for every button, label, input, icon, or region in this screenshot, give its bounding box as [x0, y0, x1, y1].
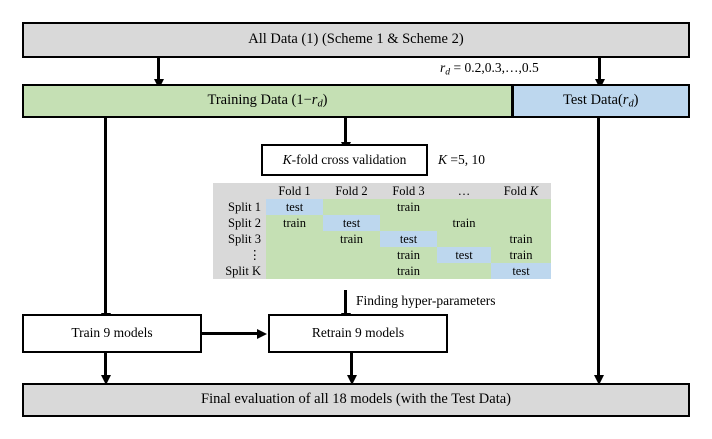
diagram-canvas: All Data (1) (Scheme 1 & Scheme 2) rd = …: [0, 0, 712, 439]
cv-cell: test: [437, 247, 491, 263]
final-evaluation-label: Final evaluation of all 18 models (with …: [201, 392, 511, 408]
cv-cell: train: [380, 199, 437, 215]
cv-cell: [437, 199, 491, 215]
cv-col-header-foldk: Fold K: [491, 183, 551, 199]
k-values-note: K =5, 10: [438, 152, 485, 168]
line-training-to-train-models: [104, 118, 107, 314]
cv-cell: test: [266, 199, 323, 215]
test-data-box: Test Data(rd): [514, 86, 689, 116]
train-test-split-row: Training Data (1−rd) Test Data(rd): [22, 84, 690, 118]
cv-row-label-ellipsis: ⋮: [213, 247, 266, 263]
arrow-test-to-final: [597, 362, 600, 376]
cv-cell: test: [380, 231, 437, 247]
train-9-models-box: Train 9 models: [22, 314, 202, 353]
kfold-cross-validation-box: K-fold cross validation: [261, 144, 428, 176]
cv-cell: [323, 263, 380, 279]
cv-col-header-fold1: Fold 1: [266, 183, 323, 199]
cv-row-label-split2: Split 2: [213, 215, 266, 231]
cv-cell: [266, 231, 323, 247]
cv-cell: train: [491, 231, 551, 247]
table-row: Split K train test: [213, 263, 551, 279]
cv-table-header-row: Fold 1 Fold 2 Fold 3 … Fold K: [213, 183, 551, 199]
arrow-train-to-retrain: [202, 332, 258, 335]
cv-cell: test: [323, 215, 380, 231]
cv-col-header-ellipsis: …: [437, 183, 491, 199]
kfold-label: K-fold cross validation: [283, 153, 407, 168]
k-values: =5, 10: [450, 152, 485, 167]
cv-fold-table: Fold 1 Fold 2 Fold 3 … Fold K Split 1 te…: [213, 183, 551, 279]
cv-row-label-splitk: Split K: [213, 263, 266, 279]
cv-cell: [491, 199, 551, 215]
arrow-cv-to-retrain: [344, 290, 347, 314]
cv-cell: [491, 215, 551, 231]
cv-col-header-fold2: Fold 2: [323, 183, 380, 199]
arrow-train-to-final: [104, 353, 107, 376]
cv-cell: train: [380, 263, 437, 279]
training-data-box: Training Data (1−rd): [24, 86, 511, 116]
cv-row-label-split1: Split 1: [213, 199, 266, 215]
cv-cell: [380, 215, 437, 231]
cv-cell: [323, 247, 380, 263]
k-symbol: K: [438, 152, 447, 167]
cv-cell: [437, 231, 491, 247]
cv-cell: test: [491, 263, 551, 279]
cv-cell: [266, 263, 323, 279]
table-row: ⋮ train test train: [213, 247, 551, 263]
test-data-label: Test Data(rd): [563, 92, 639, 110]
table-row: Split 2 train test train: [213, 215, 551, 231]
cv-cell: [323, 199, 380, 215]
cv-cell: train: [323, 231, 380, 247]
arrow-alldata-to-test: [598, 58, 601, 80]
cv-table-body: Split 1 test train Split 2 train test tr…: [213, 199, 551, 279]
cv-cell: train: [266, 215, 323, 231]
all-data-label: All Data (1) (Scheme 1 & Scheme 2): [248, 32, 463, 48]
table-row: Split 1 test train: [213, 199, 551, 215]
cv-cell: train: [437, 215, 491, 231]
table-row: Split 3 train test train: [213, 231, 551, 247]
retrain-9-models-box: Retrain 9 models: [268, 314, 448, 353]
all-data-box: All Data (1) (Scheme 1 & Scheme 2): [22, 22, 690, 58]
training-data-label: Training Data (1−rd): [207, 92, 327, 110]
final-evaluation-box: Final evaluation of all 18 models (with …: [22, 383, 690, 417]
arrow-alldata-to-training: [157, 58, 160, 80]
cv-col-header-fold3: Fold 3: [380, 183, 437, 199]
cv-cell: train: [380, 247, 437, 263]
arrow-training-to-kfold: [344, 118, 347, 143]
line-test-to-final: [597, 118, 600, 376]
arrow-retrain-to-final: [350, 353, 353, 376]
retrain-9-models-label: Retrain 9 models: [312, 326, 404, 341]
cv-row-label-split3: Split 3: [213, 231, 266, 247]
rd-ratio-value: = 0.2,0.3,…,0.5: [454, 60, 539, 75]
cv-cell: [266, 247, 323, 263]
finding-hyperparameters-note: Finding hyper-parameters: [356, 293, 496, 309]
cv-cell: train: [491, 247, 551, 263]
cv-corner-cell: [213, 183, 266, 199]
arrow-training-to-train-models: [104, 300, 107, 314]
rd-ratio-note: rd = 0.2,0.3,…,0.5: [440, 60, 539, 77]
train-9-models-label: Train 9 models: [71, 326, 152, 341]
cv-cell: [437, 263, 491, 279]
